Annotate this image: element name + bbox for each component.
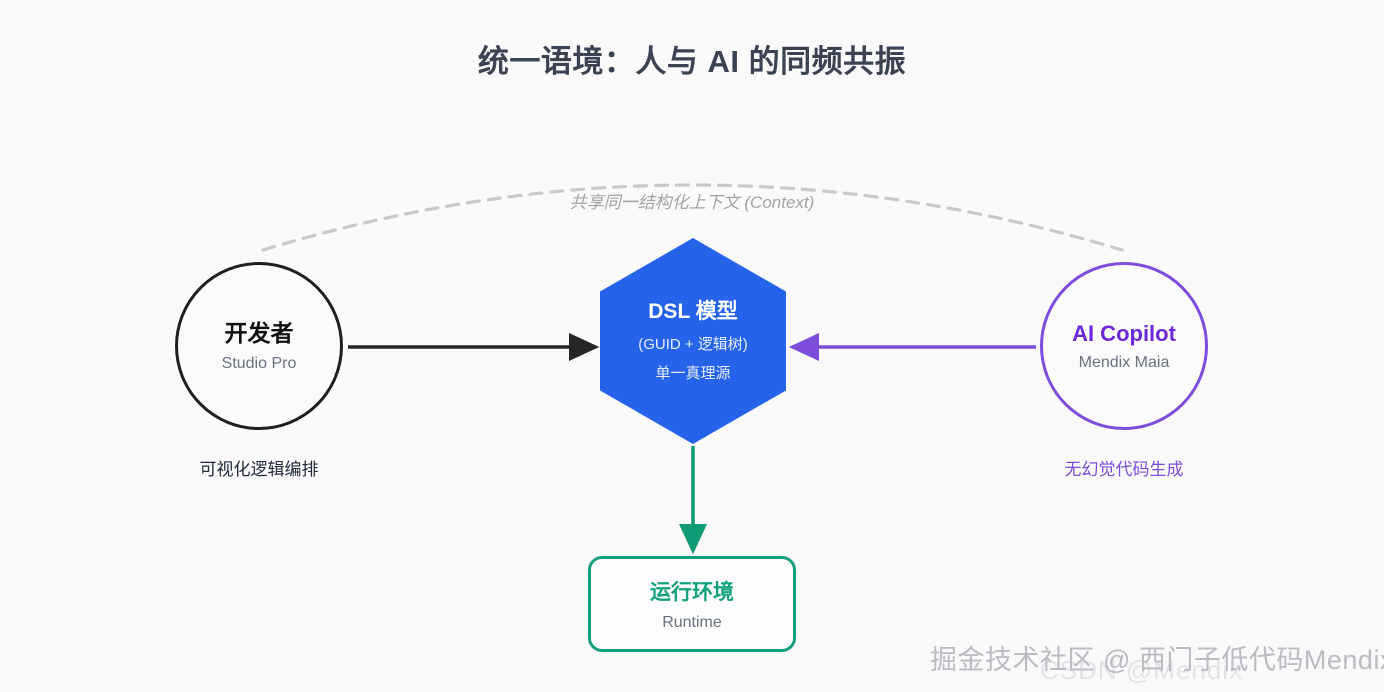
node-runtime[interactable]: 运行环境 Runtime [588,556,796,652]
node-dsl-title: DSL 模型 [648,299,737,324]
shared-context-label: 共享同一结构化上下文 (Context) [492,188,892,213]
node-developer-title: 开发者 [225,319,294,348]
node-dsl-line2: (GUID + 逻辑树) [638,333,748,354]
node-developer-subtitle: Studio Pro [222,355,297,373]
node-runtime-subtitle: Runtime [662,614,722,632]
watermark-primary: 掘金技术社区 @ 西门子低代码Mendix [930,638,1384,677]
node-developer[interactable]: 开发者 Studio Pro [175,262,343,430]
diagram-canvas: 统一语境：人与 AI 的同频共振 共享同一结构化上下文 (Context) 开发… [0,0,1384,692]
node-dsl-model[interactable]: DSL 模型 (GUID + 逻辑树) 单一真理源 [600,238,786,444]
node-ai-copilot-subtitle: Mendix Maia [1079,354,1170,372]
node-dsl-line3: 单一真理源 [655,362,730,383]
node-ai-copilot[interactable]: AI Copilot Mendix Maia [1040,262,1208,430]
node-runtime-title: 运行环境 [650,576,734,606]
node-ai-copilot-caption: 无幻觉代码生成 [994,455,1254,480]
page-title: 统一语境：人与 AI 的同频共振 [0,36,1384,81]
node-developer-caption: 可视化逻辑编排 [129,455,389,480]
node-ai-copilot-title: AI Copilot [1072,320,1176,348]
